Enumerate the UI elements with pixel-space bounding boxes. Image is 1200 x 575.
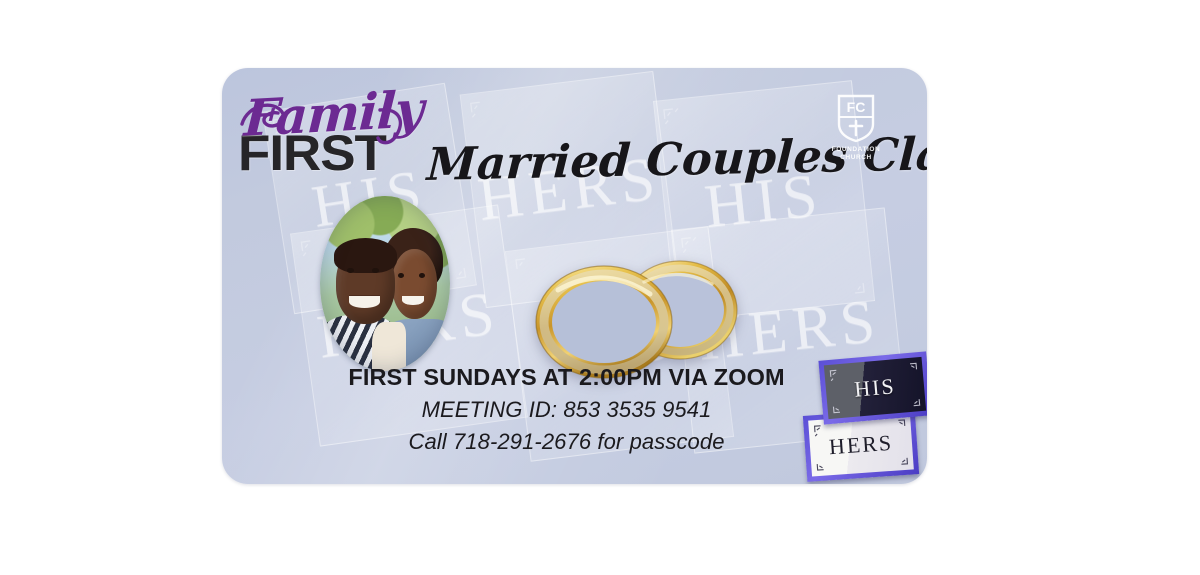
shield-cross-icon: FC [836, 93, 876, 143]
flourish-icon [887, 417, 908, 438]
his-hers-plaques: HERS [805, 356, 927, 484]
couple-photo: Smiling married couple portrait [320, 196, 450, 371]
family-first-logo: FIRST Family [238, 90, 448, 172]
logo-name-line2: CHURCH [840, 154, 872, 161]
flourish-icon [901, 388, 923, 410]
his-plaque: HIS [818, 351, 927, 424]
flourish-icon [889, 447, 910, 468]
flourish-icon [827, 366, 849, 388]
screenshot-canvas: HIS HERS [0, 0, 1200, 575]
flourish-icon [899, 360, 921, 382]
flourish-icon [467, 98, 496, 127]
plaque-label: HIS [853, 375, 896, 401]
flourish-icon [661, 105, 690, 134]
married-couples-class-flyer: HIS HERS [222, 68, 927, 484]
brand-script-word: Family [243, 79, 425, 148]
flourish-icon [830, 394, 852, 416]
svg-text:FC: FC [847, 99, 866, 115]
flourish-icon [813, 452, 834, 473]
plaque-label: HERS [828, 432, 894, 458]
logo-monogram: FC [856, 162, 857, 163]
foundation-church-logo: FC FOUNDATION CHURCH FC [825, 93, 887, 165]
flourish-icon [811, 422, 832, 443]
logo-name-line1: FOUNDATION [832, 146, 881, 153]
